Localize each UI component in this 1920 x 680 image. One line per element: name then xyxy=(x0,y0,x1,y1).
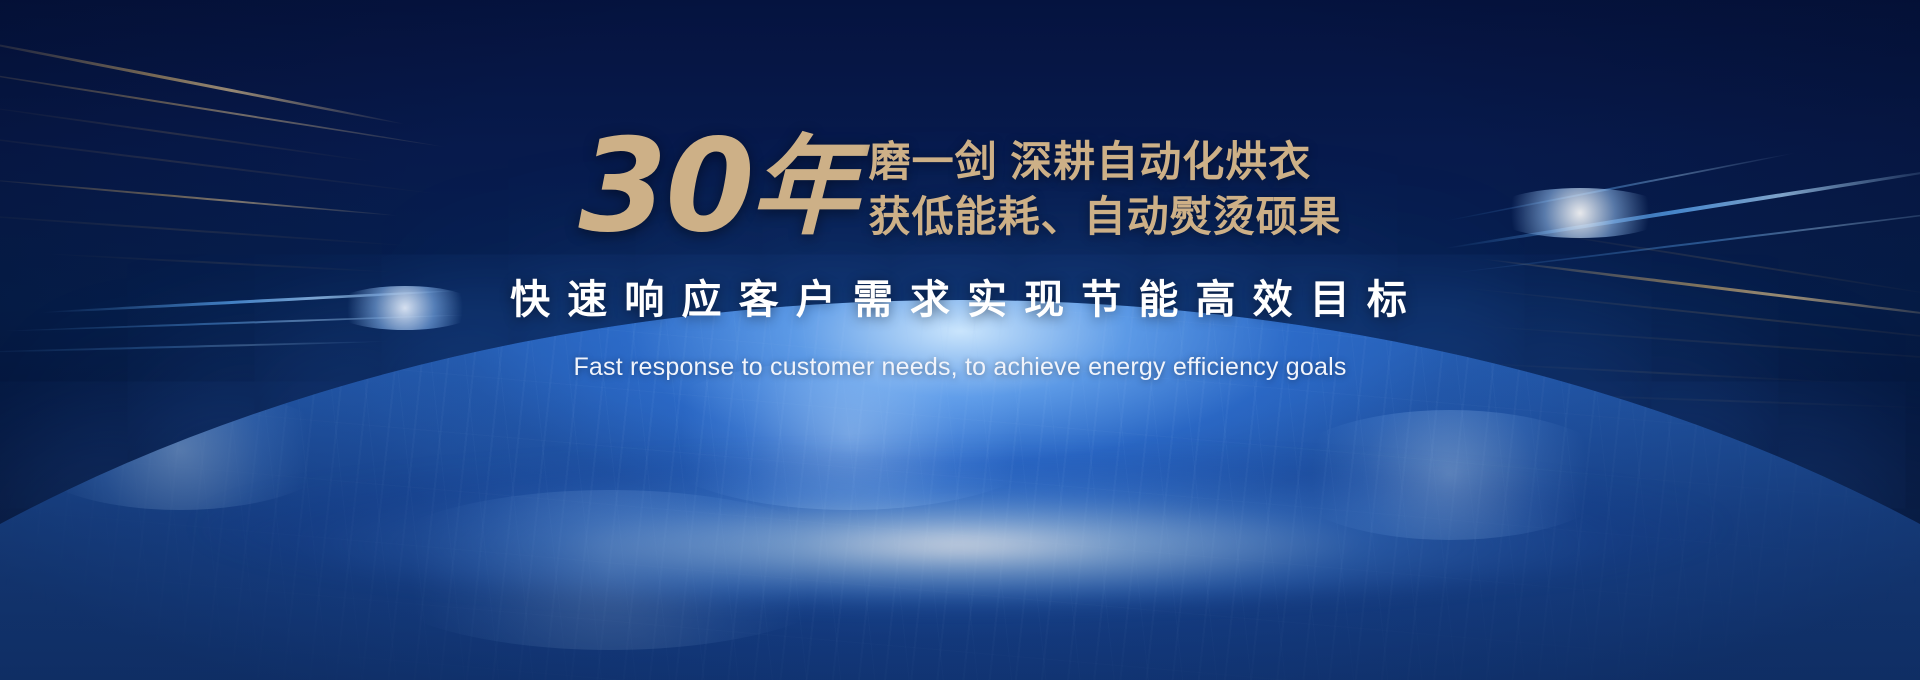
years-number: 30 xyxy=(578,126,752,249)
promo-banner: 30 年 磨一剑 深耕自动化烘衣 获低能耗、自动熨烫硕果 快 速 响 应 客 户… xyxy=(0,0,1920,680)
headline-row: 30 年 磨一剑 深耕自动化烘衣 获低能耗、自动熨烫硕果 xyxy=(0,126,1920,249)
subheading-english: Fast response to customer needs, to achi… xyxy=(0,353,1920,382)
gold-slogan-line-1: 磨一剑 深耕自动化烘衣 xyxy=(869,134,1342,189)
gold-slogan-line-2: 获低能耗、自动熨烫硕果 xyxy=(869,189,1342,244)
gold-slogan-group: 磨一剑 深耕自动化烘衣 获低能耗、自动熨烫硕果 xyxy=(869,126,1342,245)
horizon-glow xyxy=(200,452,1720,602)
subheading-chinese: 快 速 响 应 客 户 需 求 实 现 节 能 高 效 目 标 xyxy=(0,267,1920,325)
banner-content: 30 年 磨一剑 深耕自动化烘衣 获低能耗、自动熨烫硕果 快 速 响 应 客 户… xyxy=(0,0,1920,382)
years-unit: 年 xyxy=(751,130,859,244)
